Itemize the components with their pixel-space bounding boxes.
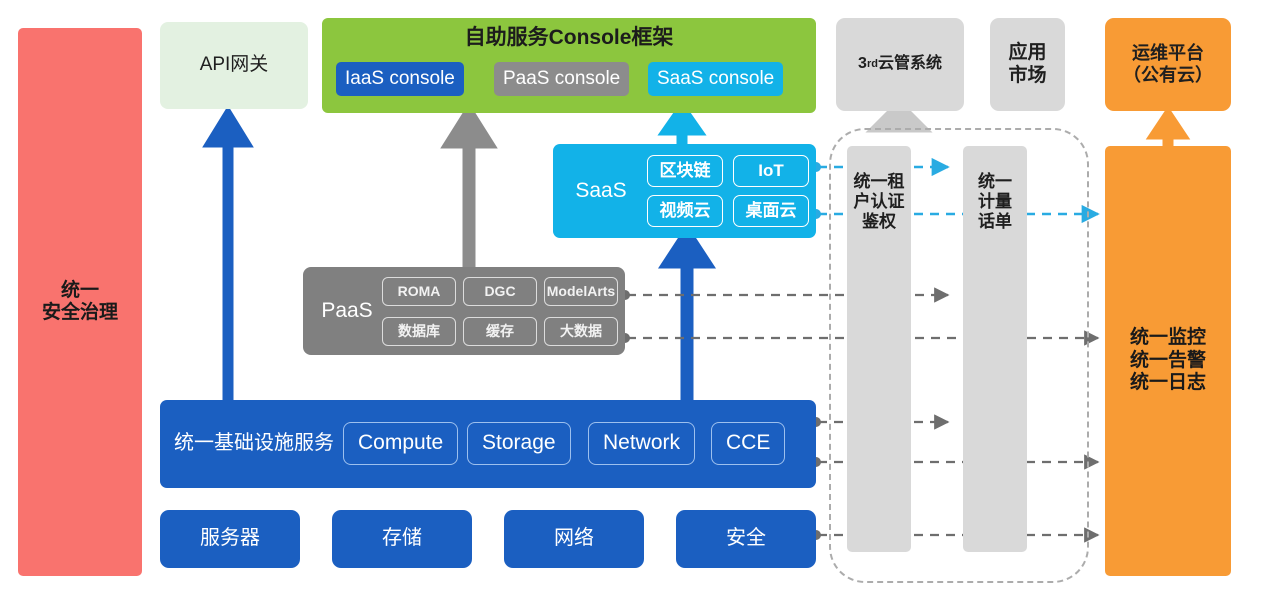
paas-service-database[interactable]: 数据库 — [382, 317, 456, 346]
console-frame-title: 自助服务Console框架 — [322, 26, 816, 51]
saas-service-video-cloud[interactable]: 视频云 — [647, 195, 723, 227]
paas-service-dgc[interactable]: DGC — [463, 277, 537, 306]
arrow-paas-to-console — [452, 115, 486, 267]
paas-service-roma[interactable]: ROMA — [382, 277, 456, 306]
third-party-tail: 云管系统 — [878, 55, 942, 74]
arrow-ops-panel-to-ops-platform — [1156, 116, 1180, 146]
chip-paas-console[interactable]: PaaS console — [494, 62, 629, 96]
box-app-marketplace[interactable]: 应用 市场 — [990, 18, 1065, 111]
saas-service-iot[interactable]: IoT — [733, 155, 809, 187]
box-hardware-network[interactable]: 网络 — [504, 510, 644, 568]
box-ops-platform-public-cloud[interactable]: 运维平台 （公有云） — [1105, 18, 1231, 111]
infra-service-storage[interactable]: Storage — [467, 422, 571, 465]
arrow-infra-to-saas — [670, 236, 704, 400]
infra-service-network[interactable]: Network — [588, 422, 695, 465]
infra-service-cce[interactable]: CCE — [711, 422, 785, 465]
box-unified-infrastructure-service[interactable]: 统一基础设施服务 Compute Storage Network CCE — [160, 400, 816, 488]
arrow-saas-to-saas-console — [668, 110, 696, 144]
box-self-service-console-frame[interactable]: 自助服务Console框架 IaaS console PaaS console … — [322, 18, 816, 113]
saas-service-desktop-cloud[interactable]: 桌面云 — [733, 195, 809, 227]
box-3rd-cloud-management-system[interactable]: 3rd云管系统 — [836, 18, 964, 111]
saas-service-blockchain[interactable]: 区块链 — [647, 155, 723, 187]
paas-service-bigdata[interactable]: 大数据 — [544, 317, 618, 346]
box-hardware-security[interactable]: 安全 — [676, 510, 816, 568]
box-saas-layer[interactable]: SaaS 区块链 IoT 视频云 桌面云 — [553, 144, 816, 238]
box-api-gateway[interactable]: API网关 — [160, 22, 308, 109]
paas-label: PaaS — [311, 267, 383, 355]
saas-label: SaaS — [565, 144, 637, 238]
column-unified-tenant-auth[interactable]: 统一租 户认证 鉴权 — [847, 146, 911, 552]
paas-service-modelarts[interactable]: ModelArts — [544, 277, 618, 306]
box-hardware-server[interactable]: 服务器 — [160, 510, 300, 568]
architecture-diagram: 统一租 户认证 鉴权 统一 计量 话单 统一 安全治理 统一监控 统一告警 统一… — [0, 0, 1265, 605]
infrastructure-label: 统一基础设施服务 — [174, 400, 334, 488]
chip-iaas-console[interactable]: IaaS console — [336, 62, 464, 96]
panel-unified-security-governance[interactable]: 统一 安全治理 — [18, 28, 142, 576]
box-paas-layer[interactable]: PaaS ROMA DGC ModelArts 数据库 缓存 大数据 — [303, 267, 625, 355]
paas-service-cache[interactable]: 缓存 — [463, 317, 537, 346]
box-hardware-storage[interactable]: 存储 — [332, 510, 472, 568]
third-party-base: 3 — [858, 55, 867, 74]
column-unified-metering[interactable]: 统一 计量 话单 — [963, 146, 1027, 552]
panel-unified-monitoring[interactable]: 统一监控 统一告警 统一日志 — [1105, 146, 1231, 576]
chip-saas-console[interactable]: SaaS console — [648, 62, 783, 96]
third-party-sup: rd — [867, 58, 878, 71]
infra-service-compute[interactable]: Compute — [343, 422, 458, 465]
arrow-infra-to-api-gateway — [212, 116, 244, 400]
